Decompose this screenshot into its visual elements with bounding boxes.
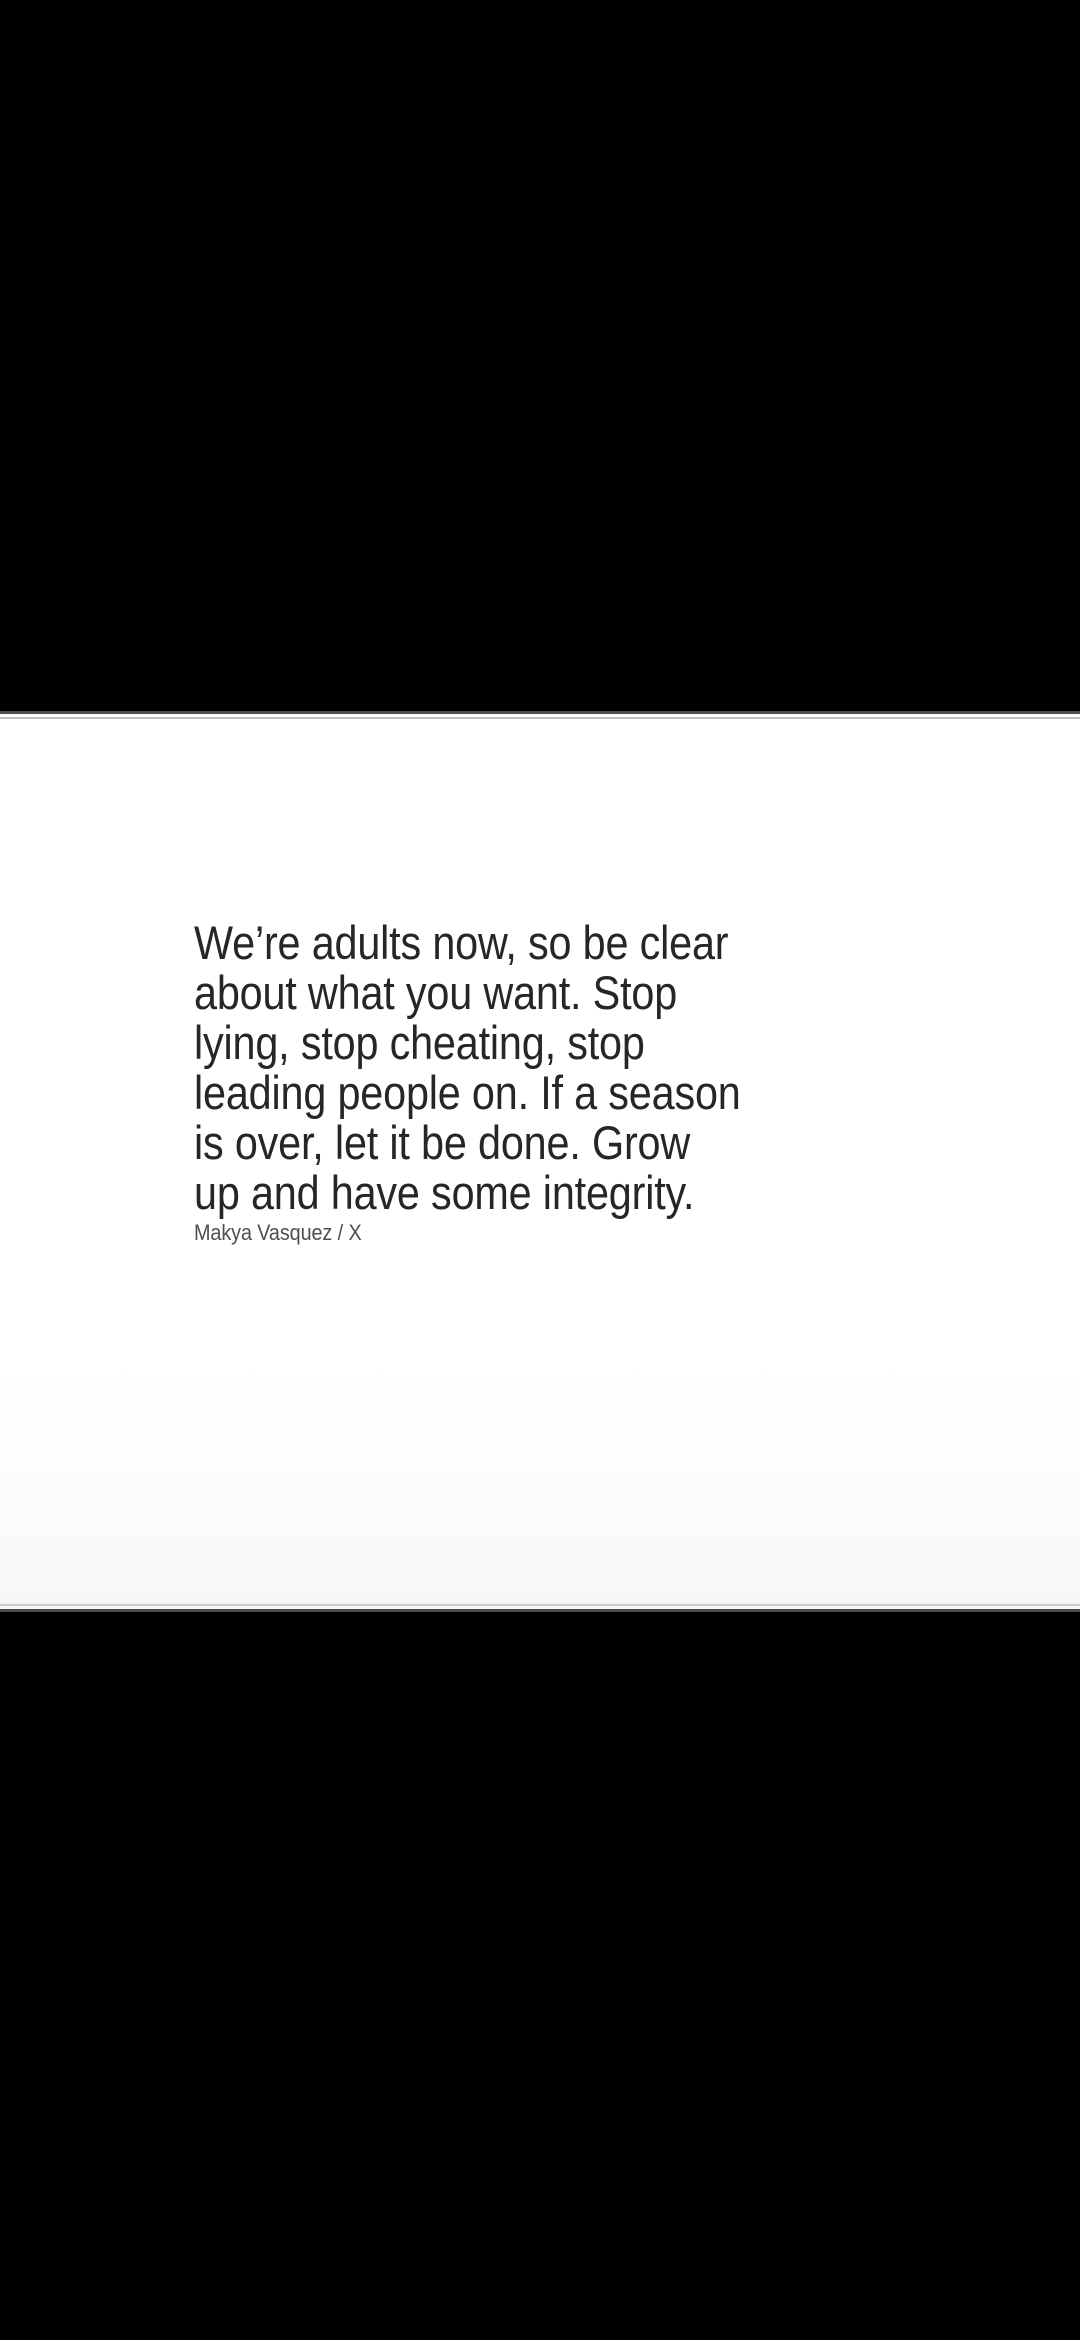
letterbox-bar-bottom [0,1612,1080,2340]
quote-text-block: We’re adults now, so be clear about what… [194,918,924,1246]
quote-line-6: up and have some integrity. [194,1168,836,1218]
letterbox-bar-top [0,0,1080,711]
card-top-hairline [0,717,1080,719]
quote-line-1: We’re adults now, so be clear [194,918,836,968]
quote-line-2: about what you want. Stop [194,968,836,1018]
screenshot-canvas: We’re adults now, so be clear about what… [0,0,1080,2340]
quote-line-3: lying, stop cheating, stop [194,1018,836,1068]
quote-card: We’re adults now, so be clear about what… [0,711,1080,1612]
card-bottom-hairline [0,1604,1080,1606]
quote-line-5: is over, let it be done. Grow [194,1118,836,1168]
quote-line-4: leading people on. If a season [194,1068,836,1118]
quote-attribution: Makya Vasquez / X [194,1220,851,1246]
